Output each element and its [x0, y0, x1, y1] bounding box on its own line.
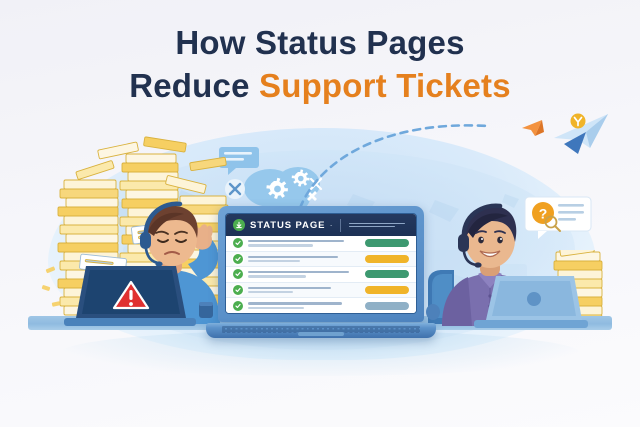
laptop-base	[206, 323, 436, 338]
laptop-trackpad	[298, 332, 344, 336]
status-pill	[365, 239, 409, 247]
left-laptop-with-error	[64, 262, 196, 326]
header-meta-line	[349, 223, 405, 224]
download-arrow-icon	[235, 221, 243, 229]
status-row[interactable]	[226, 236, 416, 252]
status-page-rows	[226, 236, 416, 313]
right-laptop	[470, 272, 590, 328]
header-meta-line	[349, 226, 395, 227]
check-circle-icon	[233, 254, 243, 264]
center-laptop: STATUS PAGE .	[218, 206, 424, 338]
service-name-placeholder	[248, 271, 360, 278]
check-circle-icon	[233, 285, 243, 295]
header-divider	[340, 219, 341, 232]
page-title: How Status Pages Reduce Support Tickets	[0, 22, 640, 108]
status-row[interactable]	[226, 252, 416, 268]
status-pill	[365, 255, 409, 263]
paper-plane-icons	[520, 112, 612, 164]
check-circle-icon	[233, 269, 243, 279]
service-name-placeholder	[248, 287, 360, 294]
title-line-2: Reduce Support Tickets	[0, 65, 640, 108]
status-row[interactable]	[226, 283, 416, 299]
status-page-title: STATUS PAGE	[250, 220, 325, 231]
status-pill	[365, 286, 409, 294]
status-page-title-suffix: .	[330, 222, 332, 228]
service-name-placeholder	[248, 302, 360, 309]
illustration-canvas: How Status Pages Reduce Support Tickets	[0, 0, 640, 427]
title-line-2-highlight: Support Tickets	[259, 67, 511, 104]
status-page-header: STATUS PAGE .	[226, 214, 416, 236]
status-row[interactable]	[226, 267, 416, 283]
status-page-screen[interactable]: STATUS PAGE .	[225, 213, 417, 314]
check-circle-icon	[233, 301, 243, 311]
check-circle-icon	[233, 238, 243, 248]
headset-mic	[474, 262, 481, 267]
headset-earcup	[140, 232, 151, 249]
status-logo-icon	[233, 219, 245, 231]
service-name-placeholder	[248, 240, 360, 247]
headset-earcup	[458, 234, 469, 252]
paper-plane-orange	[522, 120, 544, 136]
status-row[interactable]	[226, 298, 416, 313]
laptop-logo	[527, 292, 541, 306]
service-name-placeholder	[248, 256, 360, 263]
notification-badge	[571, 114, 586, 129]
title-line-1: How Status Pages	[0, 22, 640, 65]
laptop-lid: STATUS PAGE .	[218, 206, 424, 322]
status-pill	[365, 302, 409, 310]
status-pill	[365, 270, 409, 278]
title-line-2-plain: Reduce	[129, 67, 259, 104]
status-page-header-meta	[349, 223, 409, 227]
